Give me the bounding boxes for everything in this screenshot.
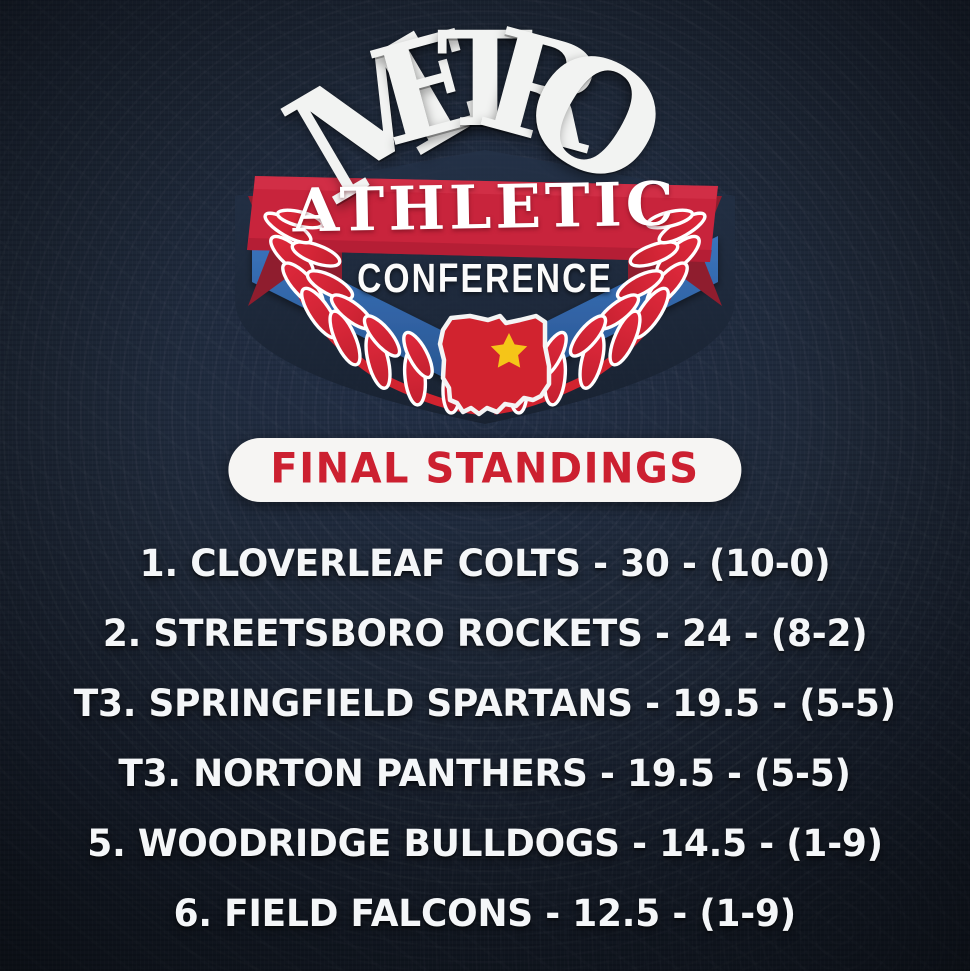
standings-row-text: T3. NORTON PANTHERS - 19.5 - (5-5) — [119, 755, 851, 792]
standings-row-text: 2. STREETSBORO ROCKETS - 24 - (8-2) — [103, 615, 868, 652]
standings-row: 6. FIELD FALCONS - 12.5 - (1-9) — [0, 878, 970, 948]
conference-subtitle: CONFERENCE — [87, 258, 882, 299]
standings-row-text: 6. FIELD FALCONS - 12.5 - (1-9) — [174, 895, 796, 932]
standings-row-text: 1. CLOVERLEAF COLTS - 30 - (10-0) — [140, 545, 831, 582]
ohio-state-icon — [440, 316, 549, 414]
standings-row: 5. WOODRIDGE BULLDOGS - 14.5 - (1-9) — [0, 808, 970, 878]
standings-row: 1. CLOVERLEAF COLTS - 30 - (10-0) — [0, 528, 970, 598]
standings-poster: METRO ATHLETIC CONFERENCE FINAL STANDING… — [0, 0, 970, 971]
standings-row-text: T3. SPRINGFIELD SPARTANS - 19.5 - (5-5) — [74, 685, 896, 722]
standings-row: 2. STREETSBORO ROCKETS - 24 - (8-2) — [0, 598, 970, 668]
standings-list: 1. CLOVERLEAF COLTS - 30 - (10-0)2. STRE… — [0, 528, 970, 948]
standings-row: T3. NORTON PANTHERS - 19.5 - (5-5) — [0, 738, 970, 808]
final-standings-label: FINAL STANDINGS — [270, 448, 699, 490]
final-standings-badge: FINAL STANDINGS — [228, 438, 741, 502]
standings-row-text: 5. WOODRIDGE BULLDOGS - 14.5 - (1-9) — [87, 825, 883, 862]
standings-row: T3. SPRINGFIELD SPARTANS - 19.5 - (5-5) — [0, 668, 970, 738]
